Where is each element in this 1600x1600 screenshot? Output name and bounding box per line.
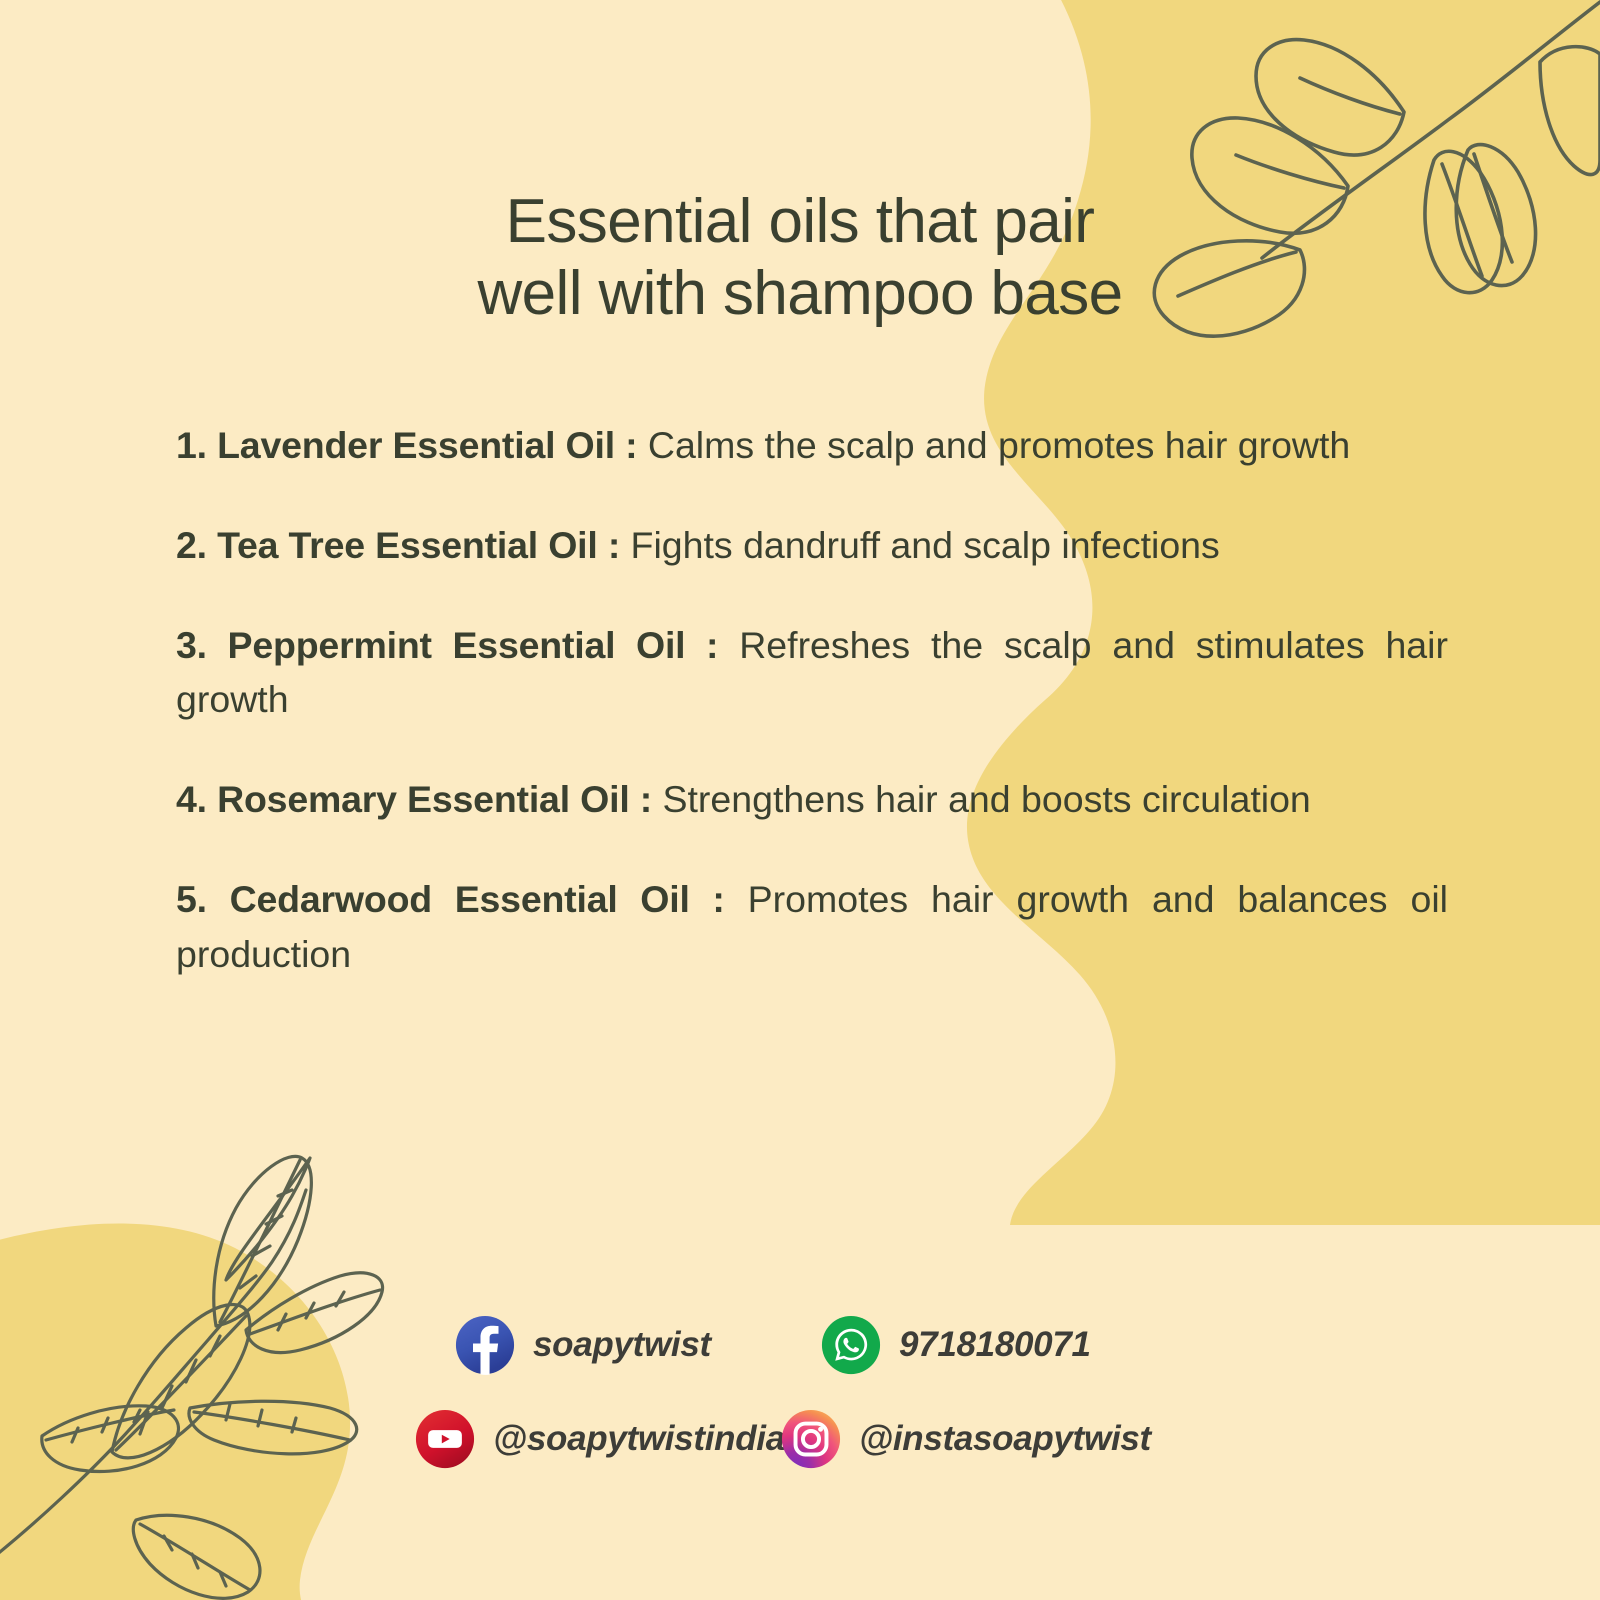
social-label: soapytwist [533, 1325, 711, 1365]
social-link-youtube[interactable]: @soapytwistindia [415, 1409, 815, 1469]
oil-name: 2. Tea Tree Essential Oil : [176, 524, 620, 566]
oil-description: Fights dandruff and scalp infections [631, 524, 1220, 566]
oil-name: 1. Lavender Essential Oil : [176, 424, 637, 466]
youtube-icon[interactable] [415, 1409, 475, 1469]
social-link-instagram[interactable]: @instasoapytwist [775, 1409, 1215, 1469]
whatsapp-icon[interactable] [821, 1315, 881, 1375]
oil-name: 3. Peppermint Essential Oil : [176, 624, 718, 666]
oil-description: Calms the scalp and promotes hair growth [648, 424, 1350, 466]
oil-name: 5. Cedarwood Essential Oil : [176, 878, 725, 920]
social-link-whatsapp[interactable]: 9718180071 [815, 1315, 1215, 1375]
list-item: 5. Cedarwood Essential Oil : Promotes ha… [176, 872, 1448, 982]
oil-name: 4. Rosemary Essential Oil : [176, 778, 652, 820]
social-link-facebook[interactable]: soapytwist [455, 1315, 815, 1375]
title-line-1: Essential oils that pair [0, 186, 1600, 258]
poster-canvas: Essential oils that pair well with shamp… [0, 0, 1600, 1600]
social-label: @instasoapytwist [859, 1419, 1151, 1459]
oil-description: Strengthens hair and boosts circulation [662, 778, 1310, 820]
page-title: Essential oils that pair well with shamp… [0, 186, 1600, 330]
list-item: 4. Rosemary Essential Oil : Strengthens … [176, 772, 1448, 827]
social-label: 9718180071 [899, 1325, 1091, 1365]
title-line-2: well with shampoo base [0, 258, 1600, 330]
list-item: 1. Lavender Essential Oil : Calms the sc… [176, 418, 1448, 473]
essential-oil-list: 1. Lavender Essential Oil : Calms the sc… [176, 418, 1448, 981]
list-item: 3. Peppermint Essential Oil : Refreshes … [176, 618, 1448, 728]
instagram-icon[interactable] [781, 1409, 841, 1469]
social-label: @soapytwistindia [493, 1419, 785, 1459]
list-item: 2. Tea Tree Essential Oil : Fights dandr… [176, 518, 1448, 573]
facebook-icon[interactable] [455, 1315, 515, 1375]
social-links: soapytwist 9718180071 [455, 1298, 1255, 1486]
